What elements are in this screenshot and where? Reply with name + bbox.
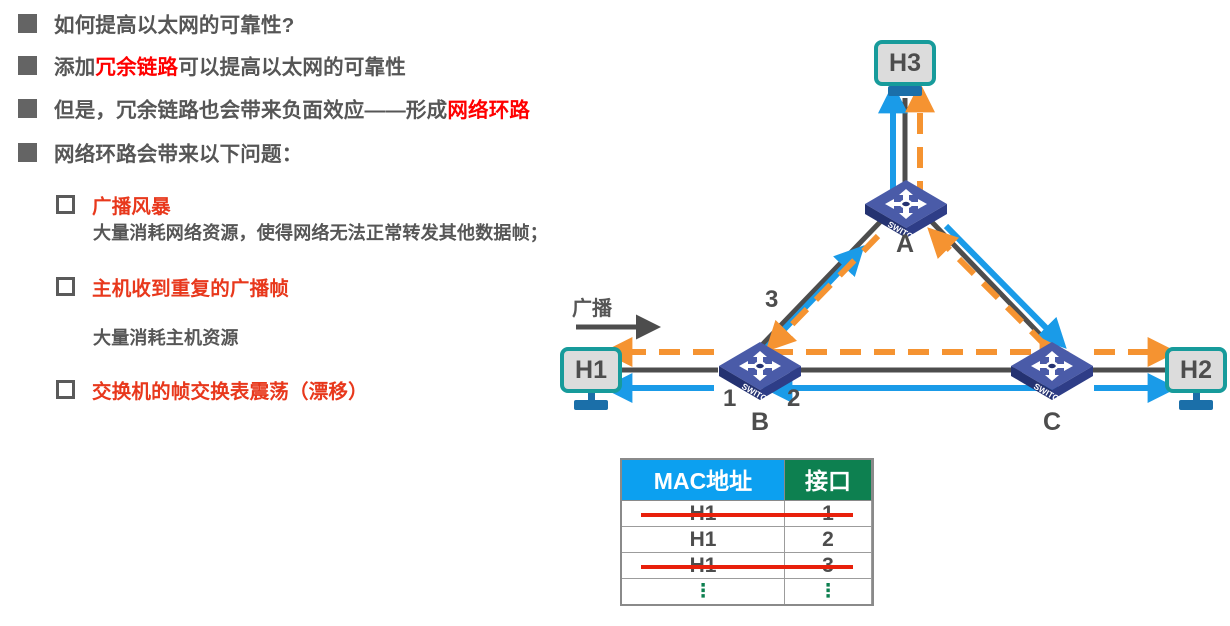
table-cell-mac: H1 [621,553,785,579]
sub-bullet-item-1-detail: 大量消耗网络资源，使得网络无法正常转发其他数据帧； [93,219,548,245]
host-h3[interactable]: H3 [874,40,936,86]
host-h1[interactable]: H1 [560,347,622,393]
switch-a-label: A [896,230,914,259]
host-h3-base [888,86,922,96]
broadcast-label: 广播 [572,292,612,321]
bullet-item-3-label: 但是，冗余链路也会带来负面效应——形成网络环路 [54,93,530,123]
sub-bullet-item-2-detail: 大量消耗主机资源 [93,324,239,350]
orange-flow-c-to-a [934,234,1046,346]
table-header-row: MAC地址 接口 [621,459,873,501]
table-cell-port: 2 [785,527,872,553]
sub-bullet-item-1-title: 广播风暴 [92,190,171,219]
table-row: ⋮ ⋮ [621,579,873,606]
blue-flow-a-to-c [946,226,1060,342]
highlight-network-loop: 网络环路 [447,99,530,122]
filled-square-icon [18,14,37,33]
table-cell-mac: H1 [621,501,785,527]
table-row: H1 3 [621,553,873,579]
table-header-port: 接口 [785,459,872,501]
table-cell-port: 1 [785,501,872,527]
host-h1-label: H1 [575,356,607,385]
hollow-square-icon [56,195,75,214]
vertical-ellipsis-icon: ⋮ [785,587,871,597]
port-label-2: 2 [787,385,800,413]
port-label-3: 3 [765,286,778,314]
table-row: H1 1 [621,501,873,527]
switch-b-label: B [751,408,769,437]
switch-c-label: C [1043,408,1061,437]
vertical-ellipsis-icon: ⋮ [622,587,784,597]
sub-bullet-item-3-title: 交换机的帧交换表震荡（漂移） [92,375,368,404]
bullet-list: 如何提高以太网的可靠性? 添加冗余链路可以提高以太网的可靠性 但是，冗余链路也会… [0,0,640,420]
filled-square-icon [18,143,37,162]
bullet-item-2-label: 添加冗余链路可以提高以太网的可靠性 [54,50,406,80]
sub-bullet-item-2-title: 主机收到重复的广播帧 [92,272,289,301]
sub-bullet-item-2: 主机收到重复的广播帧 [56,272,289,301]
sub-bullet-item-3: 交换机的帧交换表震荡（漂移） [56,375,368,404]
host-h2-base [1179,400,1213,410]
table-header-mac: MAC地址 [621,459,785,501]
table-cell-mac: H1 [621,527,785,553]
mac-address-table: MAC地址 接口 H1 1 H1 2 H1 3 ⋮ ⋮ [620,458,874,606]
table-cell-port: 3 [785,553,872,579]
hollow-square-icon [56,380,75,399]
host-h1-base [574,400,608,410]
slide-canvas: 如何提高以太网的可靠性? 添加冗余链路可以提高以太网的可靠性 但是，冗余链路也会… [0,0,1230,626]
bullet-item-1: 如何提高以太网的可靠性? [18,8,294,38]
host-h3-label: H3 [889,49,921,78]
table-cell-port: ⋮ [785,579,872,606]
port-label-1: 1 [723,385,736,413]
table-cell-mac: ⋮ [621,579,785,606]
hollow-square-icon [56,277,75,296]
filled-square-icon [18,56,37,75]
bullet-item-3: 但是，冗余链路也会带来负面效应——形成网络环路 [18,93,530,123]
bullet-item-2: 添加冗余链路可以提高以太网的可靠性 [18,50,406,80]
sub-bullet-item-1: 广播风暴 [56,190,171,219]
bullet-item-4-label: 网络环路会带来以下问题： [54,137,302,167]
filled-square-icon [18,99,37,118]
highlight-redundant-link: 冗余链路 [95,56,178,79]
host-h2-label: H2 [1180,356,1212,385]
bullet-item-4: 网络环路会带来以下问题： [18,137,302,167]
table-row: H1 2 [621,527,873,553]
bullet-item-1-label: 如何提高以太网的可靠性? [54,8,294,38]
host-h2[interactable]: H2 [1165,347,1227,393]
switch-c[interactable]: SWITCH [1009,340,1095,402]
